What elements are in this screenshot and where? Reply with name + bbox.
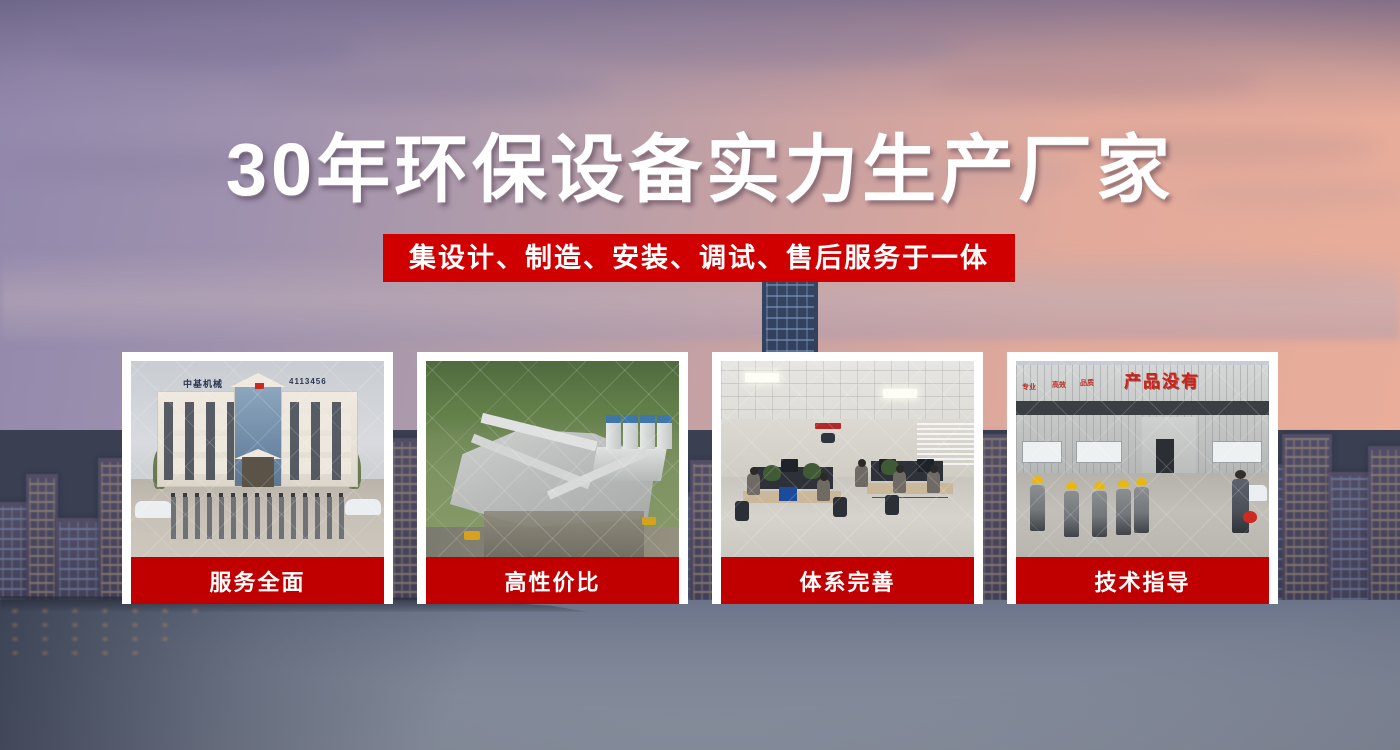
feature-card[interactable]: 高性价比 <box>417 352 688 604</box>
cloud <box>540 22 960 68</box>
cloud <box>930 60 1260 100</box>
feature-card-list: 中基机械 4113456 服务全面 <box>122 352 1278 604</box>
card-caption: 技术指导 <box>1016 557 1269 604</box>
building-sign-text: 中基机械 <box>183 377 223 390</box>
subtitle-text: 集设计、制造、安装、调试、售后服务于一体 <box>409 234 989 282</box>
card-photo-aerial-plant <box>426 361 679 557</box>
factory-wall-text-2: 高效 <box>1052 381 1066 390</box>
cloud <box>60 30 360 70</box>
card-photo-office-building: 中基机械 4113456 <box>131 361 384 557</box>
feature-card[interactable]: 产品没有 专业 高效 品质 技术指导 <box>1007 352 1278 604</box>
subtitle-banner: 集设计、制造、安装、调试、售后服务于一体 <box>383 234 1015 282</box>
factory-slogan-text: 产品没有 <box>1124 367 1200 392</box>
card-caption: 体系完善 <box>721 557 974 604</box>
card-photo-factory-workers: 产品没有 专业 高效 品质 <box>1016 361 1269 557</box>
wall-emblem-icon <box>813 423 843 447</box>
card-photo-office-interior <box>721 361 974 557</box>
red-helmet-icon <box>1243 511 1257 523</box>
cloud <box>250 68 610 102</box>
factory-wall-text-1: 专业 <box>1022 383 1036 392</box>
card-caption: 高性价比 <box>426 557 679 604</box>
feature-card[interactable]: 体系完善 <box>712 352 983 604</box>
card-caption: 服务全面 <box>131 557 384 604</box>
page-title: 30年环保设备实力生产厂家 <box>0 128 1400 212</box>
feature-card[interactable]: 中基机械 4113456 服务全面 <box>122 352 393 604</box>
building-phone-text: 4113456 <box>289 377 327 386</box>
factory-wall-text-3: 品质 <box>1080 379 1094 388</box>
